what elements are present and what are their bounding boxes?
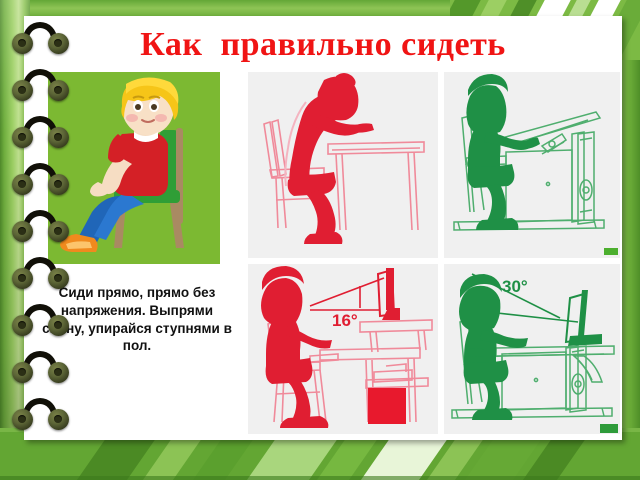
spiral-ring-bead	[48, 127, 69, 148]
spiral-ring	[12, 304, 68, 338]
angle-label-16: 16°	[332, 311, 358, 330]
spiral-ring-bead	[48, 221, 69, 242]
spiral-ring-bead	[12, 80, 33, 101]
spiral-ring-bead	[48, 315, 69, 336]
spiral-ring-bead	[48, 268, 69, 289]
spiral-ring-bead	[48, 80, 69, 101]
spiral-ring	[12, 163, 68, 197]
panel-correct-computer-posture: 30°	[444, 264, 620, 434]
spiral-ring	[12, 69, 68, 103]
spiral-ring	[12, 210, 68, 244]
spiral-ring-bead	[12, 221, 33, 242]
spiral-binding	[0, 0, 80, 480]
spiral-ring	[12, 22, 68, 56]
spiral-ring-bead	[48, 33, 69, 54]
content-area: Сиди прямо, прямо без напряжения. Выпрям…	[48, 72, 620, 434]
spiral-ring-bead	[12, 409, 33, 430]
angle-label-30: 30°	[502, 277, 528, 296]
spiral-ring-bead	[12, 315, 33, 336]
slide-canvas: Как правильно сидеть	[0, 0, 640, 480]
spiral-ring-bead	[12, 127, 33, 148]
spiral-ring-bead	[48, 174, 69, 195]
spiral-ring	[12, 351, 68, 385]
panel-correct-desk-posture	[444, 72, 620, 258]
panel-wrong-table-posture	[248, 72, 438, 258]
spiral-ring-bead	[12, 33, 33, 54]
spiral-ring-bead	[12, 268, 33, 289]
page-title: Как правильно сидеть	[78, 22, 568, 68]
spiral-ring	[12, 398, 68, 432]
spiral-ring-bead	[48, 409, 69, 430]
spiral-ring	[12, 257, 68, 291]
spiral-ring-bead	[12, 174, 33, 195]
spiral-ring	[12, 116, 68, 150]
spiral-ring-bead	[48, 362, 69, 383]
panel-wrong-computer-posture: 16°	[248, 264, 438, 434]
spiral-ring-bead	[12, 362, 33, 383]
